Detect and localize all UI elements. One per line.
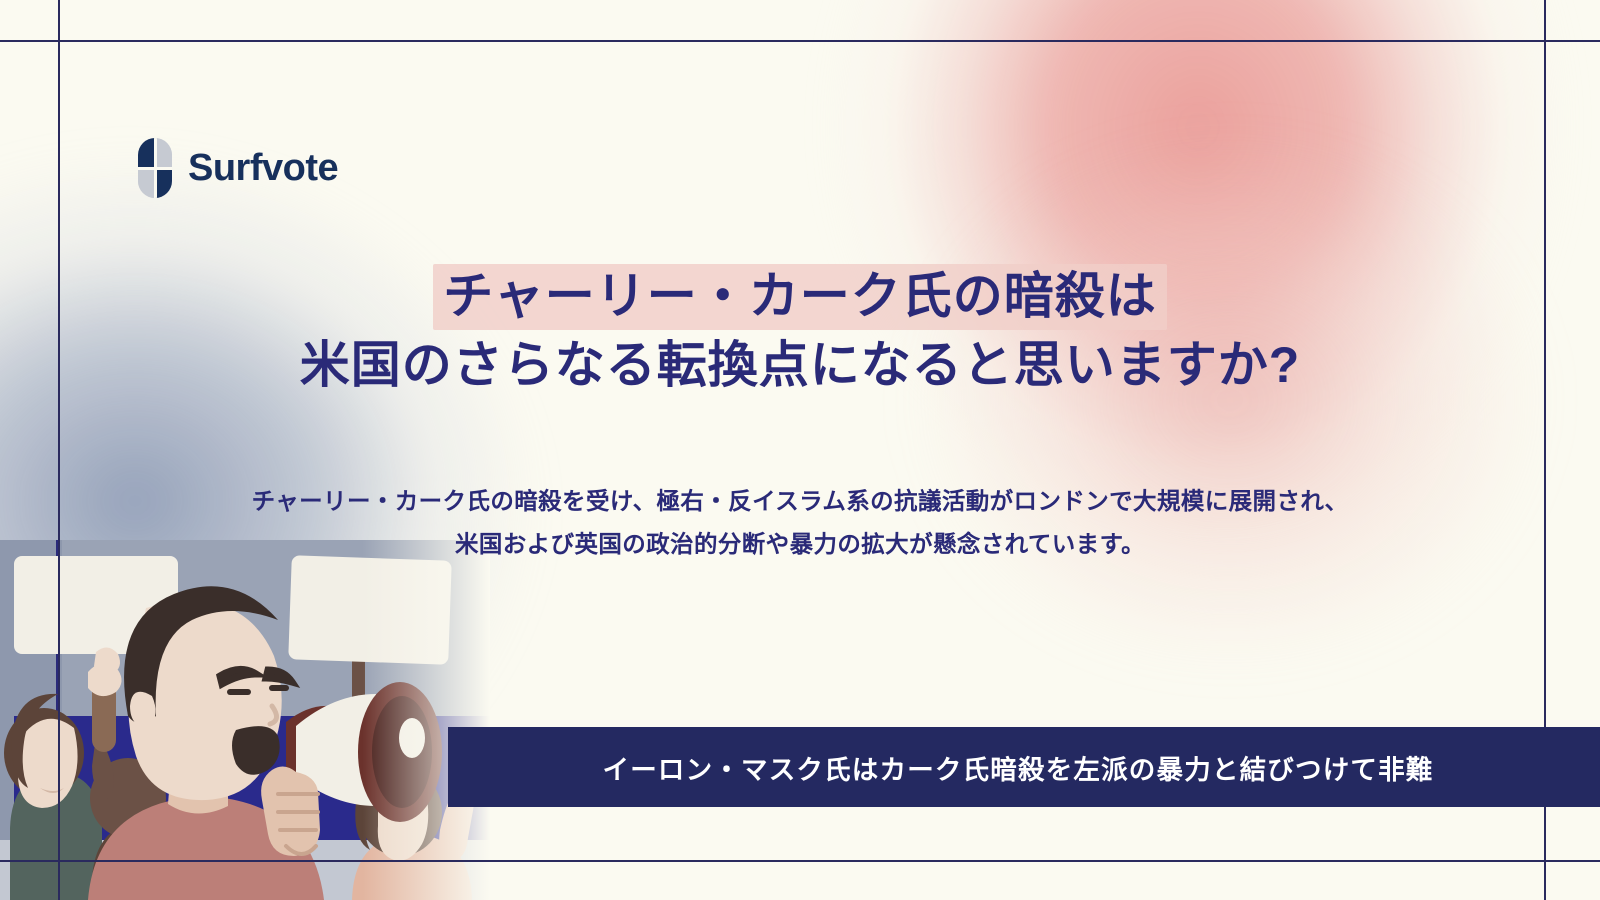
headline-line-2: 米国のさらなる転換点になると思いますか? — [0, 331, 1600, 400]
news-banner-text: イーロン・マスク氏はカーク氏暗殺を左派の暴力と結びつけて非難 — [603, 748, 1446, 787]
surfvote-pill-logo-icon — [138, 138, 172, 198]
description-line-1: チャーリー・カーク氏の暗殺を受け、極右・反イスラム系の抗議活動がロンドンで大規模… — [0, 480, 1600, 523]
question-description: チャーリー・カーク氏の暗殺を受け、極右・反イスラム系の抗議活動がロンドンで大規模… — [0, 480, 1600, 567]
logo-gap-horizontal — [138, 167, 172, 170]
logo-quadrant-bottom-left — [138, 168, 155, 198]
headline-line-1: チャーリー・カーク氏の暗殺は — [0, 262, 1600, 331]
page-title: チャーリー・カーク氏の暗殺は 米国のさらなる転換点になると思いますか? — [0, 262, 1600, 400]
brand-logo[interactable]: Surfvote — [138, 138, 338, 198]
grid-line-horizontal-top — [0, 40, 1600, 42]
protest-crowd-illustration — [0, 540, 490, 900]
brand-name: Surfvote — [188, 149, 338, 187]
logo-quadrant-top-left — [138, 138, 155, 168]
news-banner: イーロン・マスク氏はカーク氏暗殺を左派の暴力と結びつけて非難 — [448, 727, 1600, 807]
poster-canvas: Surfvote チャーリー・カーク氏の暗殺は 米国のさらなる転換点になると思い… — [0, 0, 1600, 900]
background-blob-pink-core — [920, 140, 1540, 660]
logo-quadrant-bottom-right — [155, 168, 172, 198]
logo-quadrant-top-right — [155, 138, 172, 168]
headline-highlight: チャーリー・カーク氏の暗殺は — [433, 264, 1167, 330]
description-line-2: 米国および英国の政治的分断や暴力の拡大が懸念されています。 — [0, 523, 1600, 566]
